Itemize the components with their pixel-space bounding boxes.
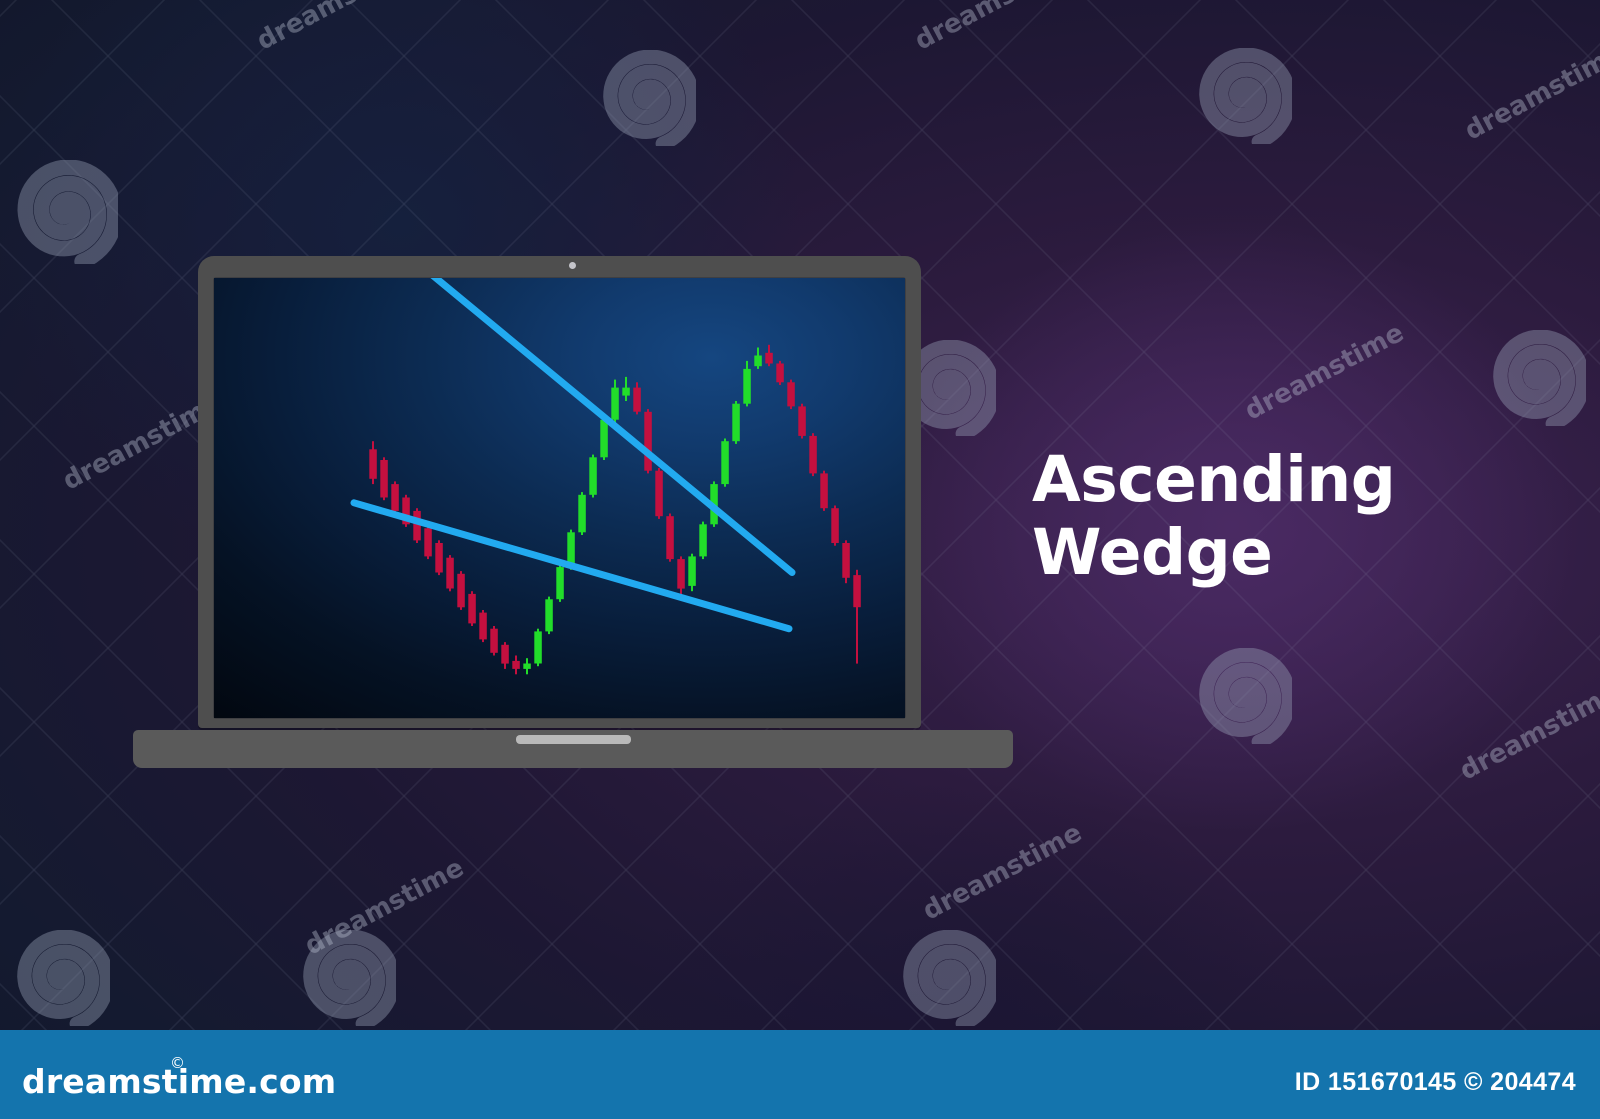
candle[interactable] <box>666 514 674 562</box>
candle[interactable] <box>413 508 421 543</box>
laptop-screen <box>214 278 905 718</box>
candle[interactable] <box>776 361 784 385</box>
candle[interactable] <box>809 433 817 476</box>
candle[interactable] <box>380 457 388 500</box>
candle[interactable] <box>468 591 476 626</box>
candle[interactable] <box>699 522 707 560</box>
candle[interactable] <box>820 471 828 511</box>
candle[interactable] <box>831 506 839 546</box>
candle[interactable] <box>490 626 498 656</box>
candle[interactable] <box>644 409 652 473</box>
dreamstime-spiral-icon <box>600 50 696 146</box>
candle[interactable] <box>677 556 685 596</box>
candle[interactable] <box>435 540 443 575</box>
candlestick-chart[interactable] <box>214 278 905 718</box>
candle[interactable] <box>655 468 663 519</box>
candle[interactable] <box>688 554 696 592</box>
candle[interactable] <box>622 377 630 401</box>
registered-mark-icon: © <box>170 1054 185 1072</box>
candle[interactable] <box>457 571 465 610</box>
footer-image-id: ID 151670145 © 204474 <box>1295 1068 1576 1097</box>
candle[interactable] <box>512 656 520 675</box>
dreamstime-spiral-icon <box>14 930 110 1026</box>
candle[interactable] <box>633 382 641 414</box>
dreamstime-spiral-icon <box>900 930 996 1026</box>
candle[interactable] <box>589 455 597 498</box>
candle[interactable] <box>501 642 509 669</box>
trendline-upper-resistance[interactable] <box>354 503 789 629</box>
candle[interactable] <box>369 441 377 484</box>
candle[interactable] <box>391 481 399 513</box>
dreamstime-spiral-icon <box>1196 48 1292 144</box>
candle[interactable] <box>556 564 564 602</box>
candle[interactable] <box>534 629 542 667</box>
candle[interactable] <box>545 597 553 635</box>
poster-canvas: dreamstimedreamstimedreamstimedreamstime… <box>0 0 1600 1119</box>
page-title: Ascending Wedge <box>1032 443 1552 589</box>
candle[interactable] <box>523 658 531 674</box>
candle[interactable] <box>853 570 861 664</box>
dreamstime-spiral-icon <box>1196 648 1292 744</box>
candle[interactable] <box>754 348 762 369</box>
page-title-line-2: Wedge <box>1032 516 1552 589</box>
candle[interactable] <box>479 610 487 642</box>
page-title-line-1: Ascending <box>1032 443 1552 516</box>
candle[interactable] <box>578 492 586 535</box>
candle[interactable] <box>787 380 795 410</box>
webcam-icon <box>569 262 576 269</box>
laptop-hinge-notch <box>516 735 631 744</box>
laptop-device <box>133 250 1013 770</box>
candle[interactable] <box>842 540 850 583</box>
candle[interactable] <box>611 380 619 423</box>
candle[interactable] <box>798 404 806 439</box>
dreamstime-spiral-icon <box>14 160 118 264</box>
dreamstime-spiral-icon <box>1490 330 1586 426</box>
candle[interactable] <box>721 439 729 487</box>
candle[interactable] <box>424 526 432 560</box>
candle[interactable] <box>446 555 454 591</box>
footer-bar: dreamstime.com © ID 151670145 © 204474 <box>0 1030 1600 1119</box>
candle[interactable] <box>765 345 773 366</box>
candle[interactable] <box>732 401 740 444</box>
candle[interactable] <box>743 361 751 407</box>
